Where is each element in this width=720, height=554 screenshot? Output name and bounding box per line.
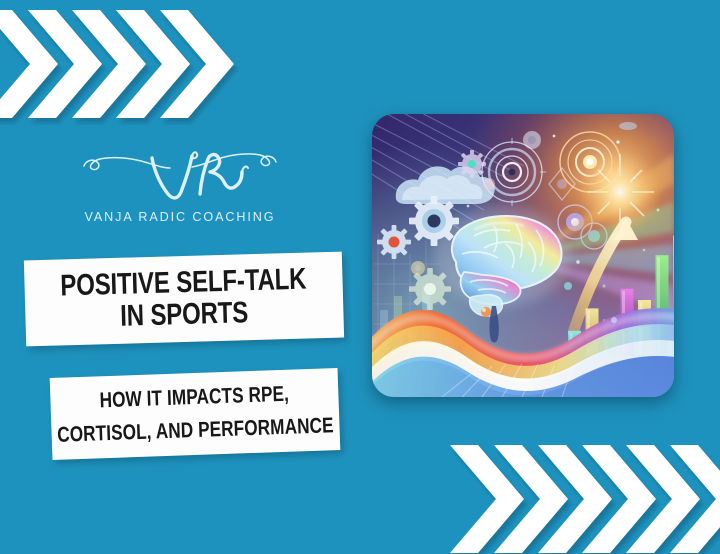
ring-icon	[523, 131, 541, 149]
gear-icon	[411, 261, 425, 275]
poster-canvas: VANJA RADIC COACHING POSITIVE SELF-TALK …	[0, 0, 720, 554]
decoration-chevrons-bottom-right	[448, 443, 720, 554]
decoration-chevrons-top-left	[0, 8, 232, 120]
chevron-right-icon	[450, 445, 720, 553]
subtitle-card: HOW IT IMPACTS RPE, CORTISOL, AND PERFOR…	[50, 368, 341, 460]
hero-image	[372, 114, 674, 397]
brand-logo: VANJA RADIC COACHING	[74, 136, 286, 224]
brain-performance-illustration-icon	[372, 114, 674, 397]
gear-icon	[377, 225, 411, 259]
brand-name: VANJA RADIC COACHING	[74, 210, 286, 224]
title-line-2: IN SPORTS	[61, 296, 308, 335]
ring-icon	[483, 178, 495, 190]
page-subtitle: HOW IT IMPACTS RPE, CORTISOL, AND PERFOR…	[56, 376, 335, 452]
title-card: POSITIVE SELF-TALK IN SPORTS	[24, 252, 344, 347]
chevron-right-icon	[0, 10, 234, 118]
script-vr-monogram-icon	[80, 136, 280, 208]
page-title: POSITIVE SELF-TALK IN SPORTS	[60, 263, 308, 335]
ring-icon	[619, 122, 637, 130]
